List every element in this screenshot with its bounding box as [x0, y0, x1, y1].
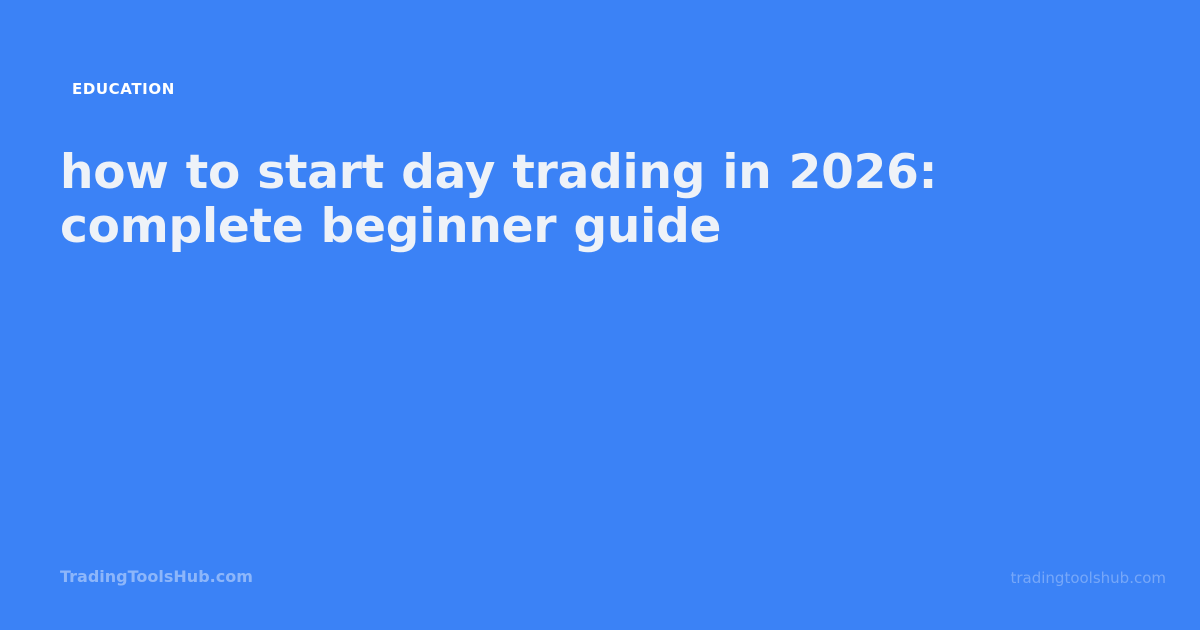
- category-label: EDUCATION: [72, 82, 175, 97]
- page-title: how to start day trading in 2026: comple…: [60, 146, 940, 254]
- footer-domain-url: tradingtoolshub.com: [1010, 571, 1166, 586]
- share-card: EDUCATION how to start day trading in 20…: [0, 0, 1200, 630]
- footer-brand-name: TradingToolsHub.com: [60, 569, 253, 585]
